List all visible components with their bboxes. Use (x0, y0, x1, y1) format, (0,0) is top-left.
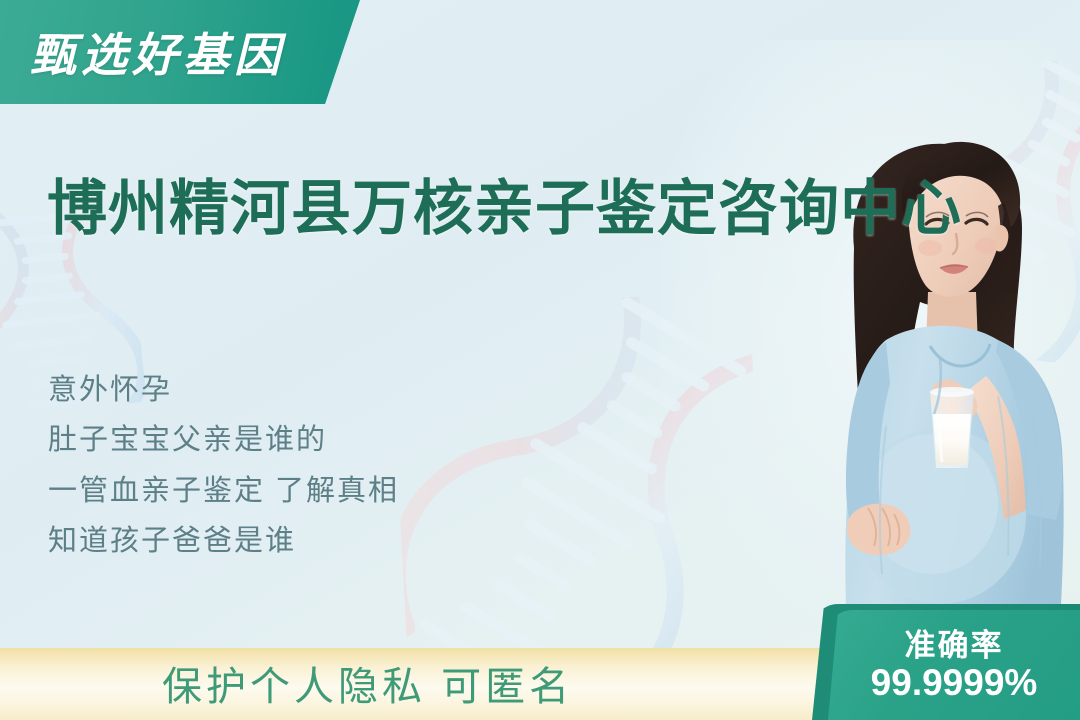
accuracy-badge: 准确率 99.9999% (812, 604, 1080, 720)
brand-logo-banner[interactable]: 甄选好基因 (0, 0, 360, 104)
body-line: 意外怀孕 (48, 372, 399, 408)
photo-backdrop-glow (660, 40, 1080, 640)
brand-logo-text: 甄选好基因 (30, 19, 285, 85)
privacy-notice: 保护个人隐私 可匿名 (162, 654, 573, 712)
page-title: 博州精河县万核亲子鉴定咨询中心 (47, 160, 962, 247)
accuracy-label: 准确率 (905, 630, 1004, 663)
accuracy-badge-panel: 准确率 99.9999% (828, 610, 1080, 720)
body-line: 知道孩子爸爸是谁 (48, 523, 399, 559)
body-copy: 意外怀孕 肚子宝宝父亲是谁的 一管血亲子鉴定 了解真相 知道孩子爸爸是谁 (48, 372, 399, 559)
body-line: 肚子宝宝父亲是谁的 (48, 422, 399, 458)
promo-poster: 甄选好基因 博州精河县万核亲子鉴定咨询中心 意外怀孕 肚子宝宝父亲是谁的 一管血… (0, 0, 1080, 720)
accuracy-value: 99.9999% (871, 663, 1038, 704)
body-line: 一管血亲子鉴定 了解真相 (48, 473, 399, 509)
